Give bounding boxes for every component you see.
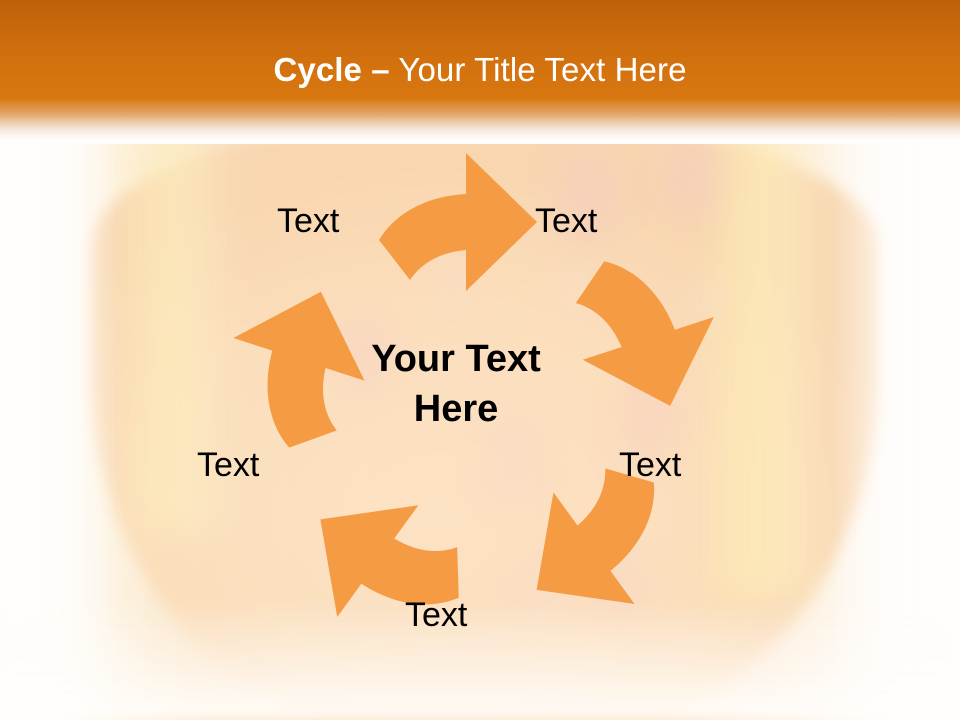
cycle-node-text: Text [197, 446, 259, 484]
cycle-center-line-2: Here [330, 384, 582, 434]
page-title-normal: Your Title Text Here [390, 51, 687, 88]
cycle-node-label-top-right[interactable]: Text [535, 202, 597, 240]
slide-canvas: Cycle – Your Title Text Here [0, 0, 960, 720]
cycle-node-label-top-left[interactable]: Text [277, 202, 339, 240]
cycle-center-line-1: Your Text [330, 334, 582, 384]
cycle-node-text: Text [535, 202, 597, 240]
cycle-center-label[interactable]: Your Text Here [330, 334, 582, 434]
cycle-node-label-left[interactable]: Text [197, 446, 259, 484]
page-title: Cycle – Your Title Text Here [0, 50, 960, 90]
cycle-node-text: Text [619, 446, 681, 484]
cycle-node-label-bottom[interactable]: Text [405, 596, 467, 634]
cycle-node-text: Text [405, 596, 467, 634]
cycle-diagram: Text Text Text Text Text Your Text Here [0, 144, 960, 720]
cycle-node-text: Text [277, 202, 339, 240]
cycle-node-label-right[interactable]: Text [619, 446, 681, 484]
page-title-strong: Cycle – [273, 51, 389, 88]
